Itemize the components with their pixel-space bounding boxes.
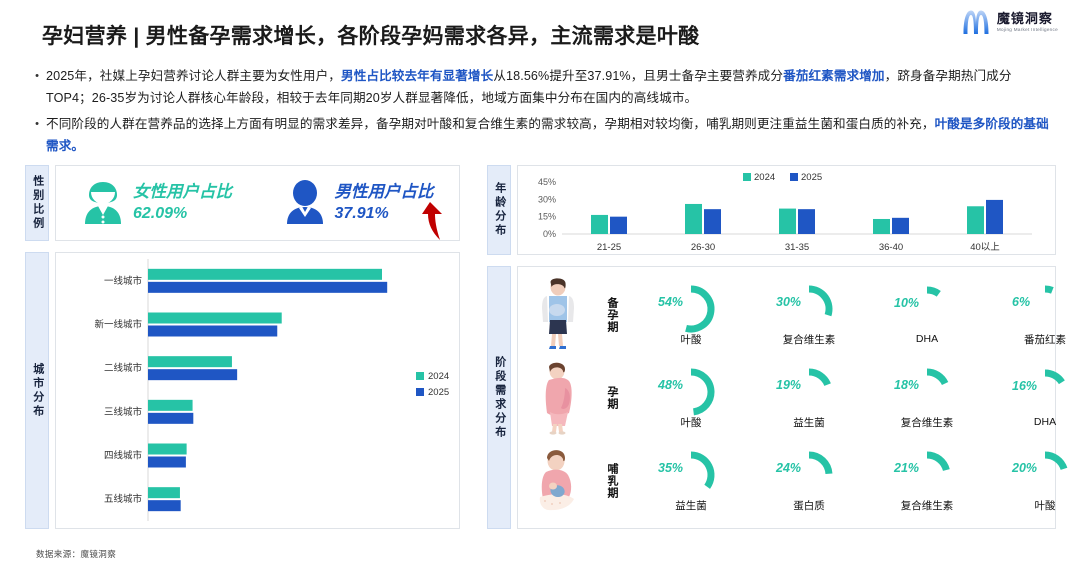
stage-figure-column — [524, 273, 592, 522]
gender-ratio-panel: 女性用户占比 62.09% 男性用户占比 37.91% — [55, 165, 460, 241]
stage-label-cell: 孕期 — [592, 356, 632, 439]
city-bar-2025 — [148, 457, 186, 468]
age-x-tick: 31-35 — [785, 242, 809, 253]
stage-demand-item: 24%蛋白质 — [750, 449, 868, 513]
city-y-tick: 五线城市 — [104, 493, 143, 505]
age-distribution-chart: 0%15%30%45%21-2526-3031-3536-4040以上20242… — [518, 166, 1055, 254]
bullet-highlight: 男性占比较去年有显著增长 — [341, 69, 493, 83]
female-stat: 女性用户占比 62.09% — [56, 179, 258, 227]
city-legend-swatch — [416, 388, 424, 396]
stage-demand-item: 16%DHA — [986, 367, 1080, 428]
stage-label-cell: 备孕期 — [592, 273, 632, 356]
woman-standing-icon — [532, 277, 584, 353]
stage-demand-item: 30%复合维生素 — [750, 283, 868, 347]
city-legend-swatch — [416, 372, 424, 380]
city-legend-label: 2024 — [428, 371, 449, 382]
bullet-plain: 2025年，社媒上孕妇营养讨论人群主要为女性用户， — [46, 69, 341, 83]
age-bar-2025 — [798, 209, 815, 234]
stage-label-text: 孕期 — [606, 386, 618, 410]
city-bar-2025 — [148, 413, 193, 424]
stage-demand-item: 48%叶酸 — [632, 366, 750, 430]
age-distribution-panel: 0%15%30%45%21-2526-3031-3536-4040以上20242… — [517, 165, 1056, 255]
donut-percent: 6% — [1012, 295, 1030, 309]
age-bar-2024 — [685, 204, 702, 234]
donut-percent: 24% — [776, 461, 801, 475]
donut-percent: 21% — [894, 461, 919, 475]
stage-figure — [524, 439, 592, 522]
donut-chart: 16% — [1012, 367, 1078, 419]
donut-chart: 19% — [776, 366, 842, 418]
donut-percent: 18% — [894, 378, 919, 392]
city-bar-2024 — [148, 487, 180, 498]
donut-chart: 10% — [894, 284, 960, 336]
stage-label-text: 备孕期 — [606, 297, 618, 333]
stage-figure — [524, 273, 592, 356]
donut-chart: 54% — [658, 283, 724, 335]
stage-name-column: 备孕期孕期哺乳期 — [592, 273, 632, 522]
city-bar-2025 — [148, 369, 237, 380]
stage-section-label-text: 阶段需求分布 — [493, 356, 505, 440]
female-value: 62.09% — [133, 205, 232, 222]
stage-demand-item: 19%益生菌 — [750, 366, 868, 430]
city-y-tick: 三线城市 — [104, 406, 143, 418]
age-section-label-text: 年龄分布 — [493, 182, 505, 238]
city-section-label-text: 城市分布 — [31, 363, 43, 419]
bullet-highlight: 番茄红素需求增加 — [783, 69, 885, 83]
pregnant-woman-icon — [532, 360, 584, 436]
stage-demand-item: 10%DHA — [868, 284, 986, 345]
bullet-text: 2025年，社媒上孕妇营养讨论人群主要为女性用户，男性占比较去年有显著增长从18… — [46, 66, 1056, 109]
gender-section-label: 性别比例 — [25, 165, 49, 241]
age-y-tick: 15% — [538, 212, 556, 222]
age-legend-label: 2024 — [754, 172, 775, 183]
stage-demand-item: 18%复合维生素 — [868, 366, 986, 430]
donut-chart: 6% — [1012, 283, 1078, 335]
city-distribution-chart: 一线城市新一线城市二线城市三线城市四线城市五线城市20242025 — [56, 253, 459, 528]
donut-percent: 16% — [1012, 379, 1037, 393]
age-legend-swatch — [743, 173, 751, 181]
city-y-tick: 新一线城市 — [94, 319, 142, 331]
donut-percent: 30% — [776, 295, 801, 309]
stage-demand-grid: 备孕期孕期哺乳期54%叶酸30%复合维生素10%DHA6%番茄红素48%叶酸19… — [518, 267, 1055, 528]
stage-section-label: 阶段需求分布 — [487, 266, 511, 529]
donut-chart: 48% — [658, 366, 724, 418]
age-bar-2025 — [704, 209, 721, 234]
stage-demand-item: 54%叶酸 — [632, 283, 750, 347]
stage-figure — [524, 356, 592, 439]
age-bar-2025 — [986, 200, 1003, 234]
city-bar-2024 — [148, 313, 282, 324]
donut-chart: 30% — [776, 283, 842, 335]
city-bar-2025 — [148, 282, 387, 293]
female-user-icon — [82, 179, 124, 227]
age-y-tick: 45% — [538, 177, 556, 187]
city-bar-2024 — [148, 269, 382, 280]
age-x-tick: 36-40 — [879, 242, 903, 253]
nursing-mother-icon — [532, 443, 584, 519]
age-x-tick: 40以上 — [970, 242, 1000, 253]
stage-demand-panel: 备孕期孕期哺乳期54%叶酸30%复合维生素10%DHA6%番茄红素48%叶酸19… — [517, 266, 1056, 529]
stage-item-row: 48%叶酸19%益生菌18%复合维生素16%DHA — [632, 356, 1080, 439]
page-title: 孕妇营养 | 男性备孕需求增长，各阶段孕妈需求各异，主流需求是叶酸 — [42, 20, 699, 50]
city-bar-2024 — [148, 444, 187, 455]
female-label: 女性用户占比 — [133, 184, 232, 202]
male-user-icon — [284, 179, 326, 227]
brand-logo: 魔镜洞察 Mojing Market Intelligence — [961, 8, 1058, 36]
stage-demand-item: 20%叶酸 — [986, 449, 1080, 513]
age-bar-2024 — [967, 206, 984, 234]
bullet-item: • 2025年，社媒上孕妇营养讨论人群主要为女性用户，男性占比较去年有显著增长从… — [28, 66, 1056, 109]
stage-items-column: 54%叶酸30%复合维生素10%DHA6%番茄红素48%叶酸19%益生菌18%复… — [632, 273, 1080, 522]
mojing-m-logo-icon — [961, 8, 991, 36]
age-section-label: 年龄分布 — [487, 165, 511, 255]
donut-chart: 18% — [894, 366, 960, 418]
city-y-tick: 二线城市 — [104, 362, 143, 374]
bullet-plain: 不同阶段的人群在营养品的选择上方面有明显的需求差异，备孕期对叶酸和复合维生素的需… — [46, 117, 935, 131]
data-source-note: 数据来源：魔镜洞察 — [36, 548, 116, 560]
slide-root: 魔镜洞察 Mojing Market Intelligence 孕妇营养 | 男… — [0, 0, 1080, 579]
city-y-tick: 四线城市 — [104, 450, 143, 462]
stage-item-row: 54%叶酸30%复合维生素10%DHA6%番茄红素 — [632, 273, 1080, 356]
donut-chart: 21% — [894, 449, 960, 501]
donut-chart: 24% — [776, 449, 842, 501]
gender-section-label-text: 性别比例 — [31, 175, 43, 231]
bullet-dot-icon: • — [28, 114, 46, 135]
stage-item-row: 35%益生菌24%蛋白质21%复合维生素20%叶酸 — [632, 439, 1080, 522]
donut-percent: 19% — [776, 378, 801, 392]
age-x-tick: 26-30 — [691, 242, 715, 253]
brand-name-cn: 魔镜洞察 — [997, 12, 1058, 25]
donut-percent: 54% — [658, 295, 683, 309]
stage-demand-item: 21%复合维生素 — [868, 449, 986, 513]
stage-label-cell: 哺乳期 — [592, 439, 632, 522]
age-legend-swatch — [790, 173, 798, 181]
red-curved-arrow-icon — [418, 200, 452, 242]
city-legend-label: 2025 — [428, 387, 449, 398]
city-bar-2024 — [148, 356, 232, 367]
city-distribution-panel: 一线城市新一线城市二线城市三线城市四线城市五线城市20242025 — [55, 252, 460, 529]
city-bar-2024 — [148, 400, 193, 411]
stage-demand-item: 6%番茄红素 — [986, 283, 1080, 347]
donut-percent: 48% — [658, 378, 683, 392]
donut-chart: 35% — [658, 449, 724, 501]
stage-label-text: 哺乳期 — [606, 463, 618, 499]
age-x-tick: 21-25 — [597, 242, 621, 253]
age-y-tick: 0% — [543, 229, 556, 239]
bullet-plain: 从18.56%提升至37.91%，且男士备孕主要营养成分 — [493, 69, 783, 83]
age-bar-2024 — [873, 219, 890, 234]
donut-percent: 20% — [1012, 461, 1037, 475]
brand-name-en: Mojing Market Intelligence — [997, 28, 1058, 33]
city-bar-2025 — [148, 500, 181, 511]
city-section-label: 城市分布 — [25, 252, 49, 529]
age-bar-2025 — [892, 218, 909, 234]
donut-chart: 20% — [1012, 449, 1078, 501]
city-bar-2025 — [148, 326, 277, 337]
city-y-tick: 一线城市 — [104, 275, 143, 287]
age-bar-2025 — [610, 217, 627, 234]
age-y-tick: 30% — [538, 194, 556, 204]
age-legend-label: 2025 — [801, 172, 822, 183]
bullet-item: • 不同阶段的人群在营养品的选择上方面有明显的需求差异，备孕期对叶酸和复合维生素… — [28, 114, 1056, 157]
age-bar-2024 — [591, 215, 608, 234]
donut-percent: 35% — [658, 461, 683, 475]
summary-bullets: • 2025年，社媒上孕妇营养讨论人群主要为女性用户，男性占比较去年有显著增长从… — [28, 66, 1056, 162]
age-bar-2024 — [779, 209, 796, 234]
stage-demand-item: 35%益生菌 — [632, 449, 750, 513]
donut-percent: 10% — [894, 296, 919, 310]
bullet-text: 不同阶段的人群在营养品的选择上方面有明显的需求差异，备孕期对叶酸和复合维生素的需… — [46, 114, 1056, 157]
bullet-dot-icon: • — [28, 66, 46, 87]
